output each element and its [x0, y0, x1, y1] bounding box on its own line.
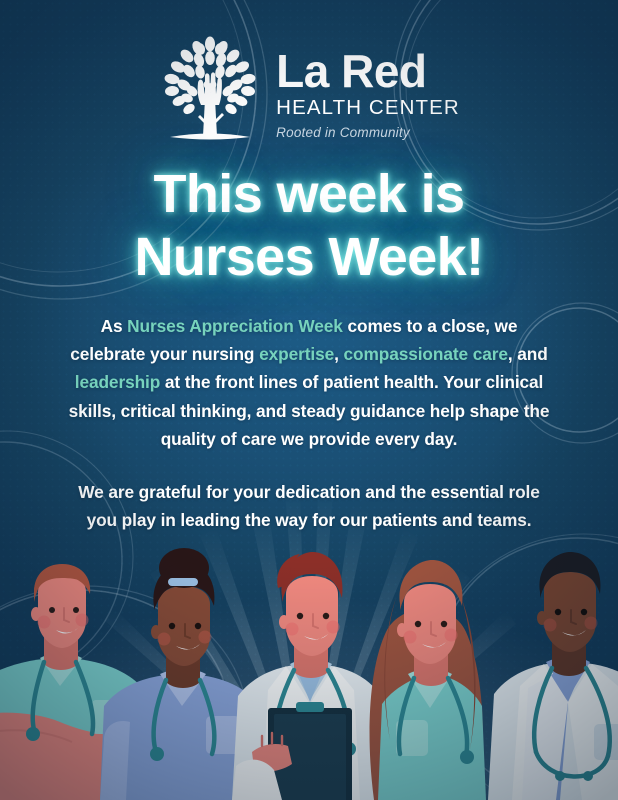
paragraph-1-run-4: ,	[334, 344, 343, 364]
logo-text-block: La Red HEALTH CENTER Rooted in Community	[276, 38, 460, 143]
tree-hand-heart-logo-icon	[158, 33, 262, 148]
nurse-3-clipboard	[232, 552, 388, 800]
paragraph-spacer	[64, 453, 554, 478]
logo-subtitle: HEALTH CENTER	[276, 94, 460, 122]
headline-line-1: This week is	[154, 164, 465, 224]
nurse-5-lab-coat	[488, 552, 618, 800]
paragraph-1-highlight-3: expertise	[259, 344, 334, 364]
page-title: This week is Nurses Week!	[0, 163, 618, 288]
paragraph-1-highlight-7: leadership	[75, 372, 160, 392]
headline-line-2: Nurses Week!	[0, 226, 618, 289]
nurses-week-poster: La Red HEALTH CENTER Rooted in Community…	[0, 0, 618, 800]
nurse-4-long-hair	[370, 560, 486, 800]
logo-name: La Red	[276, 48, 460, 94]
five-nurses-illustration	[0, 540, 618, 800]
paragraph-1-run-6: , and	[508, 344, 548, 364]
paragraph-1-run-0: As	[101, 316, 128, 336]
paragraph-1: As Nurses Appreciation Week comes to a c…	[69, 316, 550, 449]
body-copy: As Nurses Appreciation Week comes to a c…	[64, 312, 554, 534]
paragraph-2-run-0: We are grateful for your dedication and …	[78, 482, 540, 530]
logo-lockup: La Red HEALTH CENTER Rooted in Community	[0, 33, 618, 148]
logo-tagline: Rooted in Community	[276, 123, 460, 143]
paragraph-1-highlight-5: compassionate care	[344, 344, 508, 364]
paragraph-2: We are grateful for your dedication and …	[78, 482, 540, 530]
paragraph-1-highlight-1: Nurses Appreciation Week	[127, 316, 343, 336]
